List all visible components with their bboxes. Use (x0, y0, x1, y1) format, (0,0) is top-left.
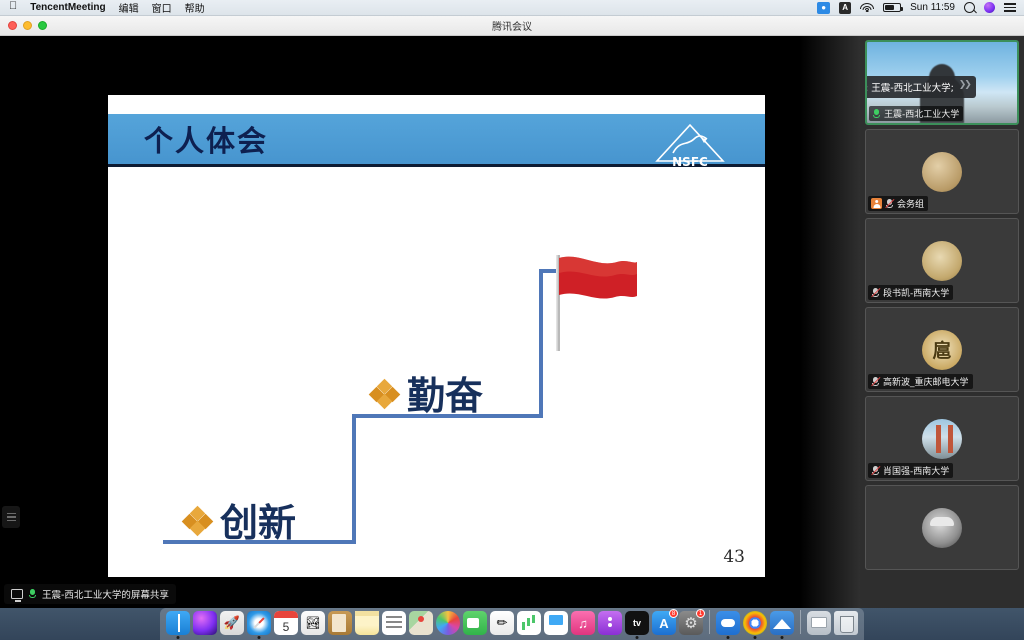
dock-item-safari[interactable] (247, 611, 271, 635)
dock-running-indicator (754, 636, 757, 639)
participant-name-chip: 肖国强-西南大学 (868, 463, 953, 478)
active-speaker-tooltip: 正在讲话: 王震-西北工业大学; ❯❯ (865, 76, 976, 98)
participant-tile[interactable] (865, 485, 1019, 570)
window-title: 腾讯会议 (0, 18, 1024, 33)
dock-item-app-store[interactable]: 8 (652, 611, 676, 635)
zoom-button[interactable] (38, 21, 47, 30)
avatar (922, 241, 962, 281)
microphone-muted-icon (871, 287, 880, 298)
participant-name-chip: 高新波_重庆邮电大学 (868, 374, 973, 389)
menu-clock[interactable]: Sun 11:59 (910, 2, 955, 13)
dock-item-calendar[interactable] (274, 611, 298, 635)
control-center-icon[interactable] (1004, 3, 1016, 11)
dock-item-reminders[interactable] (382, 611, 406, 635)
shared-screen-stage: 个人体会 NSFC (0, 36, 860, 608)
dock-item-apple-tv[interactable] (625, 611, 649, 635)
annotation-toolbar-handle[interactable] (2, 506, 20, 528)
dock-item-maps[interactable] (409, 611, 433, 635)
dock-running-indicator (258, 636, 261, 639)
dock-item-pages[interactable] (490, 611, 514, 635)
microphone-muted-icon (885, 198, 894, 209)
slide-header-band: 个人体会 NSFC (108, 114, 765, 167)
menu-edit[interactable]: 编辑 (119, 0, 139, 15)
microphone-muted-icon (871, 376, 880, 387)
presentation-slide: 个人体会 NSFC (108, 95, 765, 577)
macos-menu-bar:  TencentMeeting 编辑 窗口 帮助 ● A Sun 11:59 (0, 0, 1024, 16)
dock-item-launchpad[interactable] (220, 611, 244, 635)
slide-item-chuangxin: 创新 (184, 492, 296, 547)
dock-running-indicator (636, 636, 639, 639)
dock-item-trash[interactable] (834, 611, 858, 635)
participant-name-chip: 会务组 (868, 196, 928, 211)
participant-tile[interactable]: 会务组 (865, 129, 1019, 214)
dock-item-siri[interactable] (193, 611, 217, 635)
dock-item-photos[interactable] (301, 611, 325, 635)
microphone-icon (28, 589, 37, 600)
close-button[interactable] (8, 21, 17, 30)
screen-share-icon[interactable]: ● (817, 2, 830, 14)
slide-title: 个人体会 (144, 118, 268, 160)
participant-name: 高新波_重庆邮电大学 (883, 375, 969, 388)
participant-tile[interactable]: 正在讲话: 王震-西北工业大学; ❯❯ 王震-西北工业大学 (865, 40, 1019, 125)
dock-item-contacts[interactable] (328, 611, 352, 635)
slide-item-label: 勤奋 (407, 365, 483, 420)
slide-item-qinfen: 勤奋 (371, 365, 483, 420)
siri-icon[interactable] (984, 2, 995, 13)
dock-item-downloads-stack[interactable] (807, 611, 831, 635)
dock-item-finder[interactable] (166, 611, 190, 635)
window-title-bar: 腾讯会议 (0, 16, 1024, 36)
window-traffic-lights[interactable] (0, 21, 47, 30)
diamond-bullet-icon (371, 381, 399, 405)
macos-dock[interactable]: 81 (160, 608, 864, 640)
dock-item-google-chrome[interactable] (743, 611, 767, 635)
active-speaker-label: 正在讲话: 王震-西北工业大学; (865, 83, 954, 94)
dock-badge: 1 (696, 609, 705, 618)
wifi-icon[interactable] (860, 2, 874, 13)
host-badge-icon (871, 198, 882, 209)
participant-name-chip: 王震-西北工业大学 (869, 106, 963, 121)
slide-page-number: 43 (723, 547, 745, 567)
share-status-label: 王震-西北工业大学的屏幕共享 (42, 587, 169, 601)
dock-item-itunes[interactable] (571, 611, 595, 635)
apple-menu-icon[interactable]:  (9, 1, 17, 12)
dock-badge: 8 (669, 609, 678, 618)
dock-running-indicator (177, 636, 180, 639)
input-method-icon[interactable]: A (839, 2, 851, 14)
avatar (922, 330, 962, 370)
menu-help[interactable]: 帮助 (185, 0, 205, 15)
diamond-bullet-icon (184, 508, 212, 532)
dock-item-keynote[interactable] (544, 611, 568, 635)
dock-running-indicator (781, 636, 784, 639)
participant-name-chip: 段书凯-西南大学 (868, 285, 953, 300)
minimize-button[interactable] (23, 21, 32, 30)
nsfc-logo: NSFC (653, 120, 727, 168)
dock-item-tencent-meeting[interactable] (716, 611, 740, 635)
dock-item-podcasts[interactable] (598, 611, 622, 635)
participant-name: 段书凯-西南大学 (883, 286, 949, 299)
participant-tile[interactable]: 肖国强-西南大学 (865, 396, 1019, 481)
dock-item-blue-app[interactable] (770, 611, 794, 635)
screen-icon (11, 589, 23, 599)
microphone-muted-icon (871, 465, 880, 476)
chevron-right-icon: ❯❯ (959, 80, 970, 90)
tencent-meeting-window: 腾讯会议 个人体会 NSFC (0, 16, 1024, 608)
microphone-on-icon (872, 108, 881, 119)
participant-name: 肖国强-西南大学 (883, 464, 949, 477)
separator-2 (800, 610, 801, 634)
menu-window[interactable]: 窗口 (152, 0, 172, 15)
participant-tile[interactable]: 段书凯-西南大学 (865, 218, 1019, 303)
separator-1 (709, 610, 710, 634)
participant-name: 王震-西北工业大学 (884, 107, 959, 120)
avatar (922, 152, 962, 192)
avatar (922, 508, 962, 548)
dock-item-system-preferences[interactable]: 1 (679, 611, 703, 635)
dock-item-numbers[interactable] (517, 611, 541, 635)
dock-item-facetime[interactable] (463, 611, 487, 635)
red-flag-goal (545, 250, 640, 355)
participant-name: 会务组 (897, 197, 924, 210)
svg-text:NSFC: NSFC (672, 155, 708, 168)
participant-video-strip[interactable]: 正在讲话: 王震-西北工业大学; ❯❯ 王震-西北工业大学 会务组 段书凯-西南… (860, 36, 1024, 608)
slide-body: 勤奋 创新 43 (108, 170, 765, 577)
slide-item-label: 创新 (220, 492, 296, 547)
participant-tile[interactable]: 高新波_重庆邮电大学 (865, 307, 1019, 392)
spotlight-search-icon[interactable] (964, 2, 975, 13)
dock-item-photos-library[interactable] (436, 611, 460, 635)
screen-share-status-bar: 王震-西北工业大学的屏幕共享 (4, 584, 176, 604)
battery-icon[interactable] (883, 3, 901, 12)
dock-item-notes[interactable] (355, 611, 379, 635)
avatar (922, 419, 962, 459)
dock-running-indicator (727, 636, 730, 639)
menu-app-name[interactable]: TencentMeeting (30, 2, 105, 13)
